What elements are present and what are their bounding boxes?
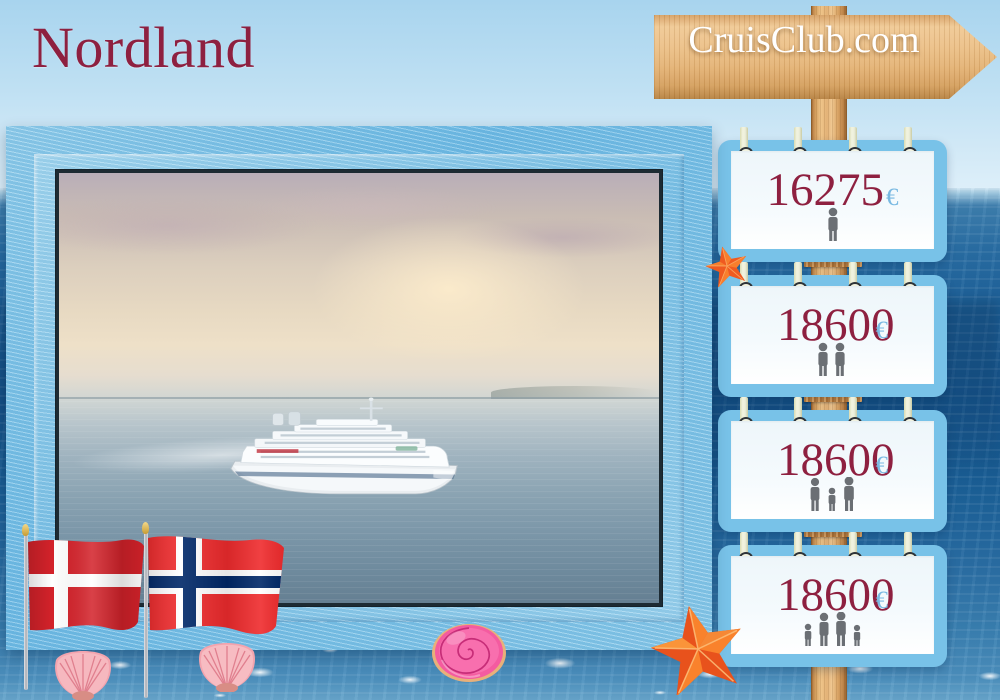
two-adults-icon: [731, 342, 934, 376]
family-three-icon: [731, 477, 934, 511]
price-card-family-three[interactable]: 18600€: [718, 410, 947, 532]
page-title: Nordland: [32, 14, 255, 81]
starfish-icon: [705, 245, 749, 292]
price-card-body: 18600€: [731, 286, 934, 384]
scallop-shell-icon: [196, 638, 258, 697]
currency-symbol: €: [876, 452, 889, 479]
currency-symbol: €: [876, 587, 889, 614]
price-card-body: 18600€: [731, 421, 934, 519]
brand-label: CruisClub.com: [659, 18, 949, 62]
poster-canvas: Nordland CruisClub.com 16275€: [0, 0, 1000, 700]
starfish-icon: [650, 603, 746, 700]
flag-finial: [22, 524, 29, 536]
price-card-body: 16275€: [731, 151, 934, 249]
flag-finial: [142, 522, 149, 534]
scallop-shell-icon: [52, 646, 114, 700]
price-card-family-four[interactable]: 18600€: [718, 545, 947, 667]
price-card-body: 18600€: [731, 556, 934, 654]
spiral-shell-icon: [430, 622, 508, 689]
cruise-ship-icon: [221, 397, 479, 509]
price-card-double[interactable]: 18600€: [718, 275, 947, 397]
price-card-single[interactable]: 16275€: [718, 140, 947, 262]
currency-symbol: €: [876, 317, 889, 344]
photo-sun-glow: [311, 216, 587, 362]
person-icon: [731, 207, 934, 241]
family-four-icon: [731, 612, 934, 646]
